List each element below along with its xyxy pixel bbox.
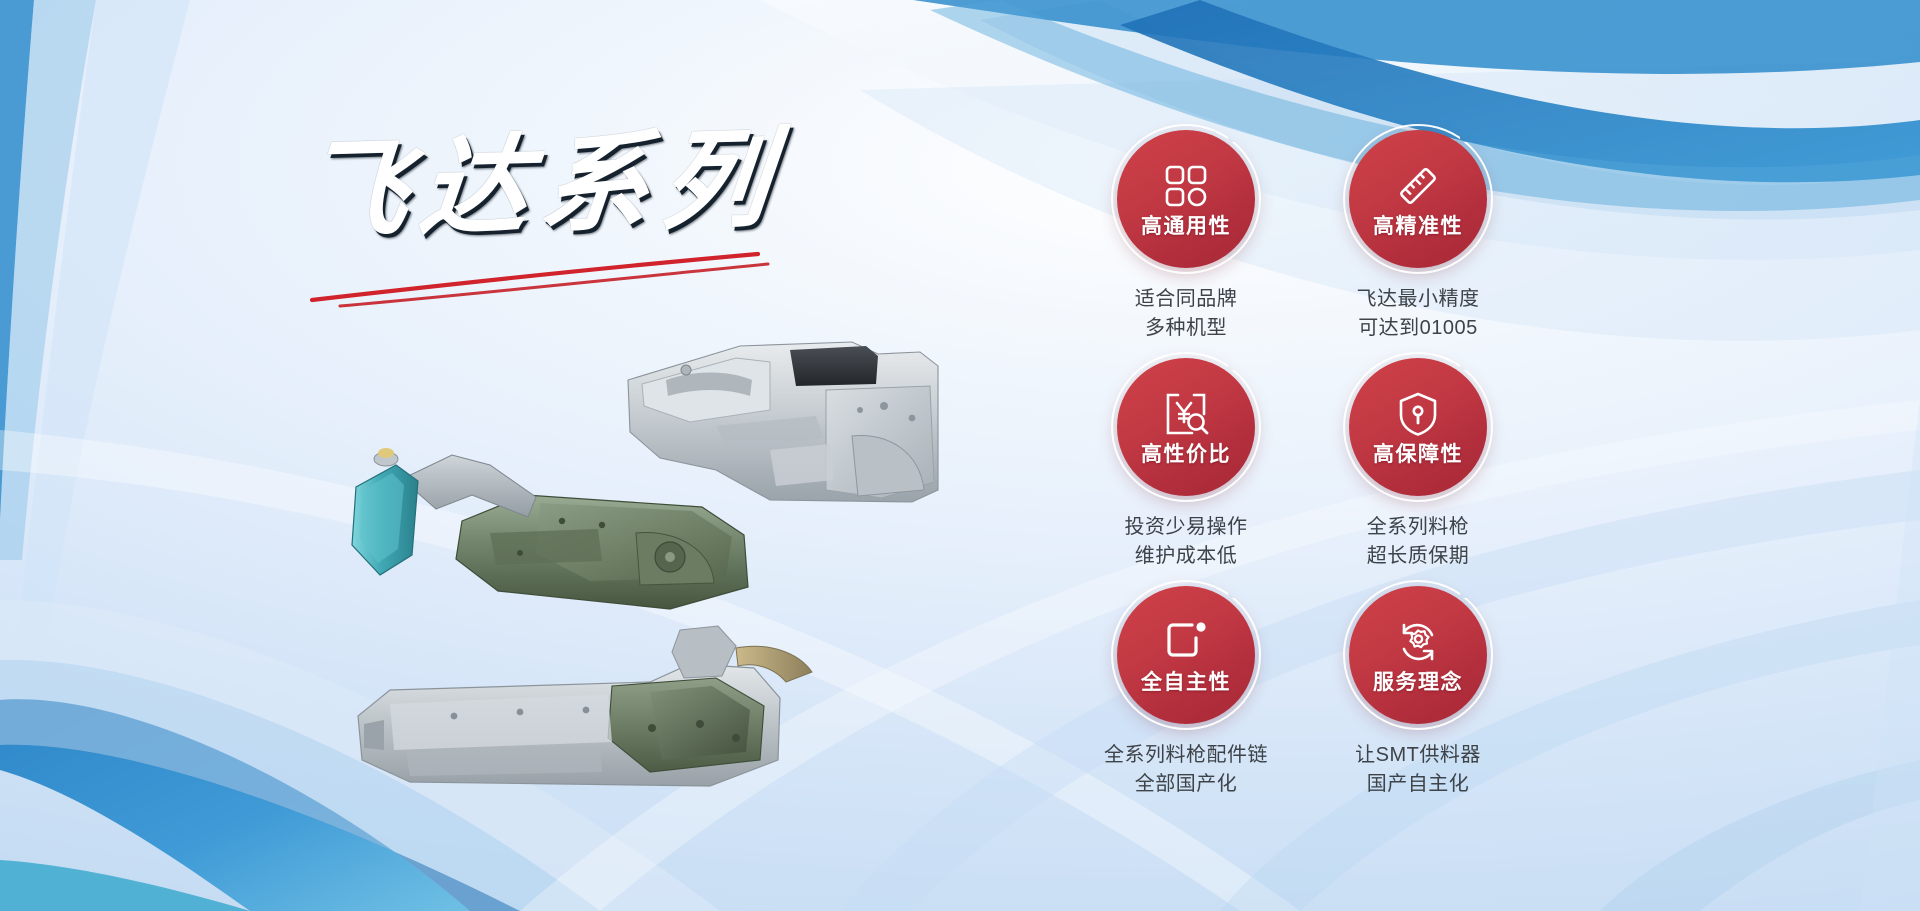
- badge-caption-3: 全系列料枪 超长质保期: [1367, 513, 1470, 571]
- badge-caption-2-line2: 维护成本低: [1125, 542, 1248, 571]
- badge-circle-3[interactable]: 高保障性: [1349, 358, 1487, 496]
- badge-circle-5[interactable]: 服务理念: [1349, 586, 1487, 724]
- badge-title-4: 全自主性: [1141, 672, 1231, 693]
- banner-title-block: 飞达系列: [300, 130, 820, 315]
- badge-circle-4[interactable]: 全自主性: [1117, 586, 1255, 724]
- badge-title-3: 高保障性: [1373, 444, 1463, 465]
- feature-badge-3[interactable]: 高保障性 全系列料枪 超长质保期: [1302, 358, 1534, 586]
- feature-badge-0[interactable]: 高通用性 适合同品牌 多种机型: [1070, 130, 1302, 358]
- badge-caption-4-line1: 全系列料枪配件链: [1104, 741, 1268, 770]
- badge-caption-5: 让SMT供料器 国产自主化: [1355, 741, 1481, 799]
- badge-caption-0: 适合同品牌 多种机型: [1135, 285, 1238, 343]
- badge-caption-3-line2: 超长质保期: [1367, 542, 1470, 571]
- gear-refresh-icon: [1394, 618, 1442, 666]
- badge-caption-4: 全系列料枪配件链 全部国产化: [1104, 741, 1268, 799]
- badge-caption-2: 投资少易操作 维护成本低: [1125, 513, 1248, 571]
- badge-caption-1-line1: 飞达最小精度: [1357, 285, 1480, 314]
- badge-circle-1[interactable]: 高精准性: [1349, 130, 1487, 268]
- feature-badge-1[interactable]: 高精准性 飞达最小精度 可达到01005: [1302, 130, 1534, 358]
- grid-squares-icon: [1162, 162, 1210, 210]
- banner-stage: 飞达系列: [0, 0, 1920, 911]
- page-title: 飞达系列: [294, 116, 827, 255]
- smt-feeder-photo-middle: [340, 425, 790, 640]
- yen-search-icon: [1162, 390, 1210, 438]
- badge-caption-0-line2: 多种机型: [1135, 314, 1238, 343]
- title-underline-swoosh: [306, 248, 776, 308]
- badge-title-0: 高通用性: [1141, 216, 1231, 237]
- feature-badge-5[interactable]: 服务理念 让SMT供料器 国产自主化: [1302, 586, 1534, 814]
- badge-title-2: 高性价比: [1141, 444, 1231, 465]
- badge-caption-0-line1: 适合同品牌: [1135, 285, 1238, 314]
- feature-badge-4[interactable]: 全自主性 全系列料枪配件链 全部国产化: [1070, 586, 1302, 814]
- badge-caption-1-line2: 可达到01005: [1357, 314, 1480, 343]
- badge-title-1: 高精准性: [1373, 216, 1463, 237]
- badge-title-5: 服务理念: [1373, 672, 1463, 693]
- square-dot-icon: [1162, 618, 1210, 666]
- badge-caption-3-line1: 全系列料枪: [1367, 513, 1470, 542]
- badge-caption-2-line1: 投资少易操作: [1125, 513, 1248, 542]
- feature-badge-grid: 高通用性 适合同品牌 多种机型 高精准性: [1070, 130, 1500, 830]
- badge-caption-4-line2: 全部国产化: [1104, 770, 1268, 799]
- badge-circle-0[interactable]: 高通用性: [1117, 130, 1255, 268]
- badge-caption-1: 飞达最小精度 可达到01005: [1357, 285, 1480, 343]
- badge-caption-5-line1: 让SMT供料器: [1355, 741, 1481, 770]
- badge-caption-5-line2: 国产自主化: [1355, 770, 1481, 799]
- smt-feeder-photo-bottom: [350, 620, 880, 835]
- ruler-icon: [1394, 162, 1442, 210]
- shield-lock-icon: [1394, 390, 1442, 438]
- feature-badge-2[interactable]: 高性价比 投资少易操作 维护成本低: [1070, 358, 1302, 586]
- badge-circle-2[interactable]: 高性价比: [1117, 358, 1255, 496]
